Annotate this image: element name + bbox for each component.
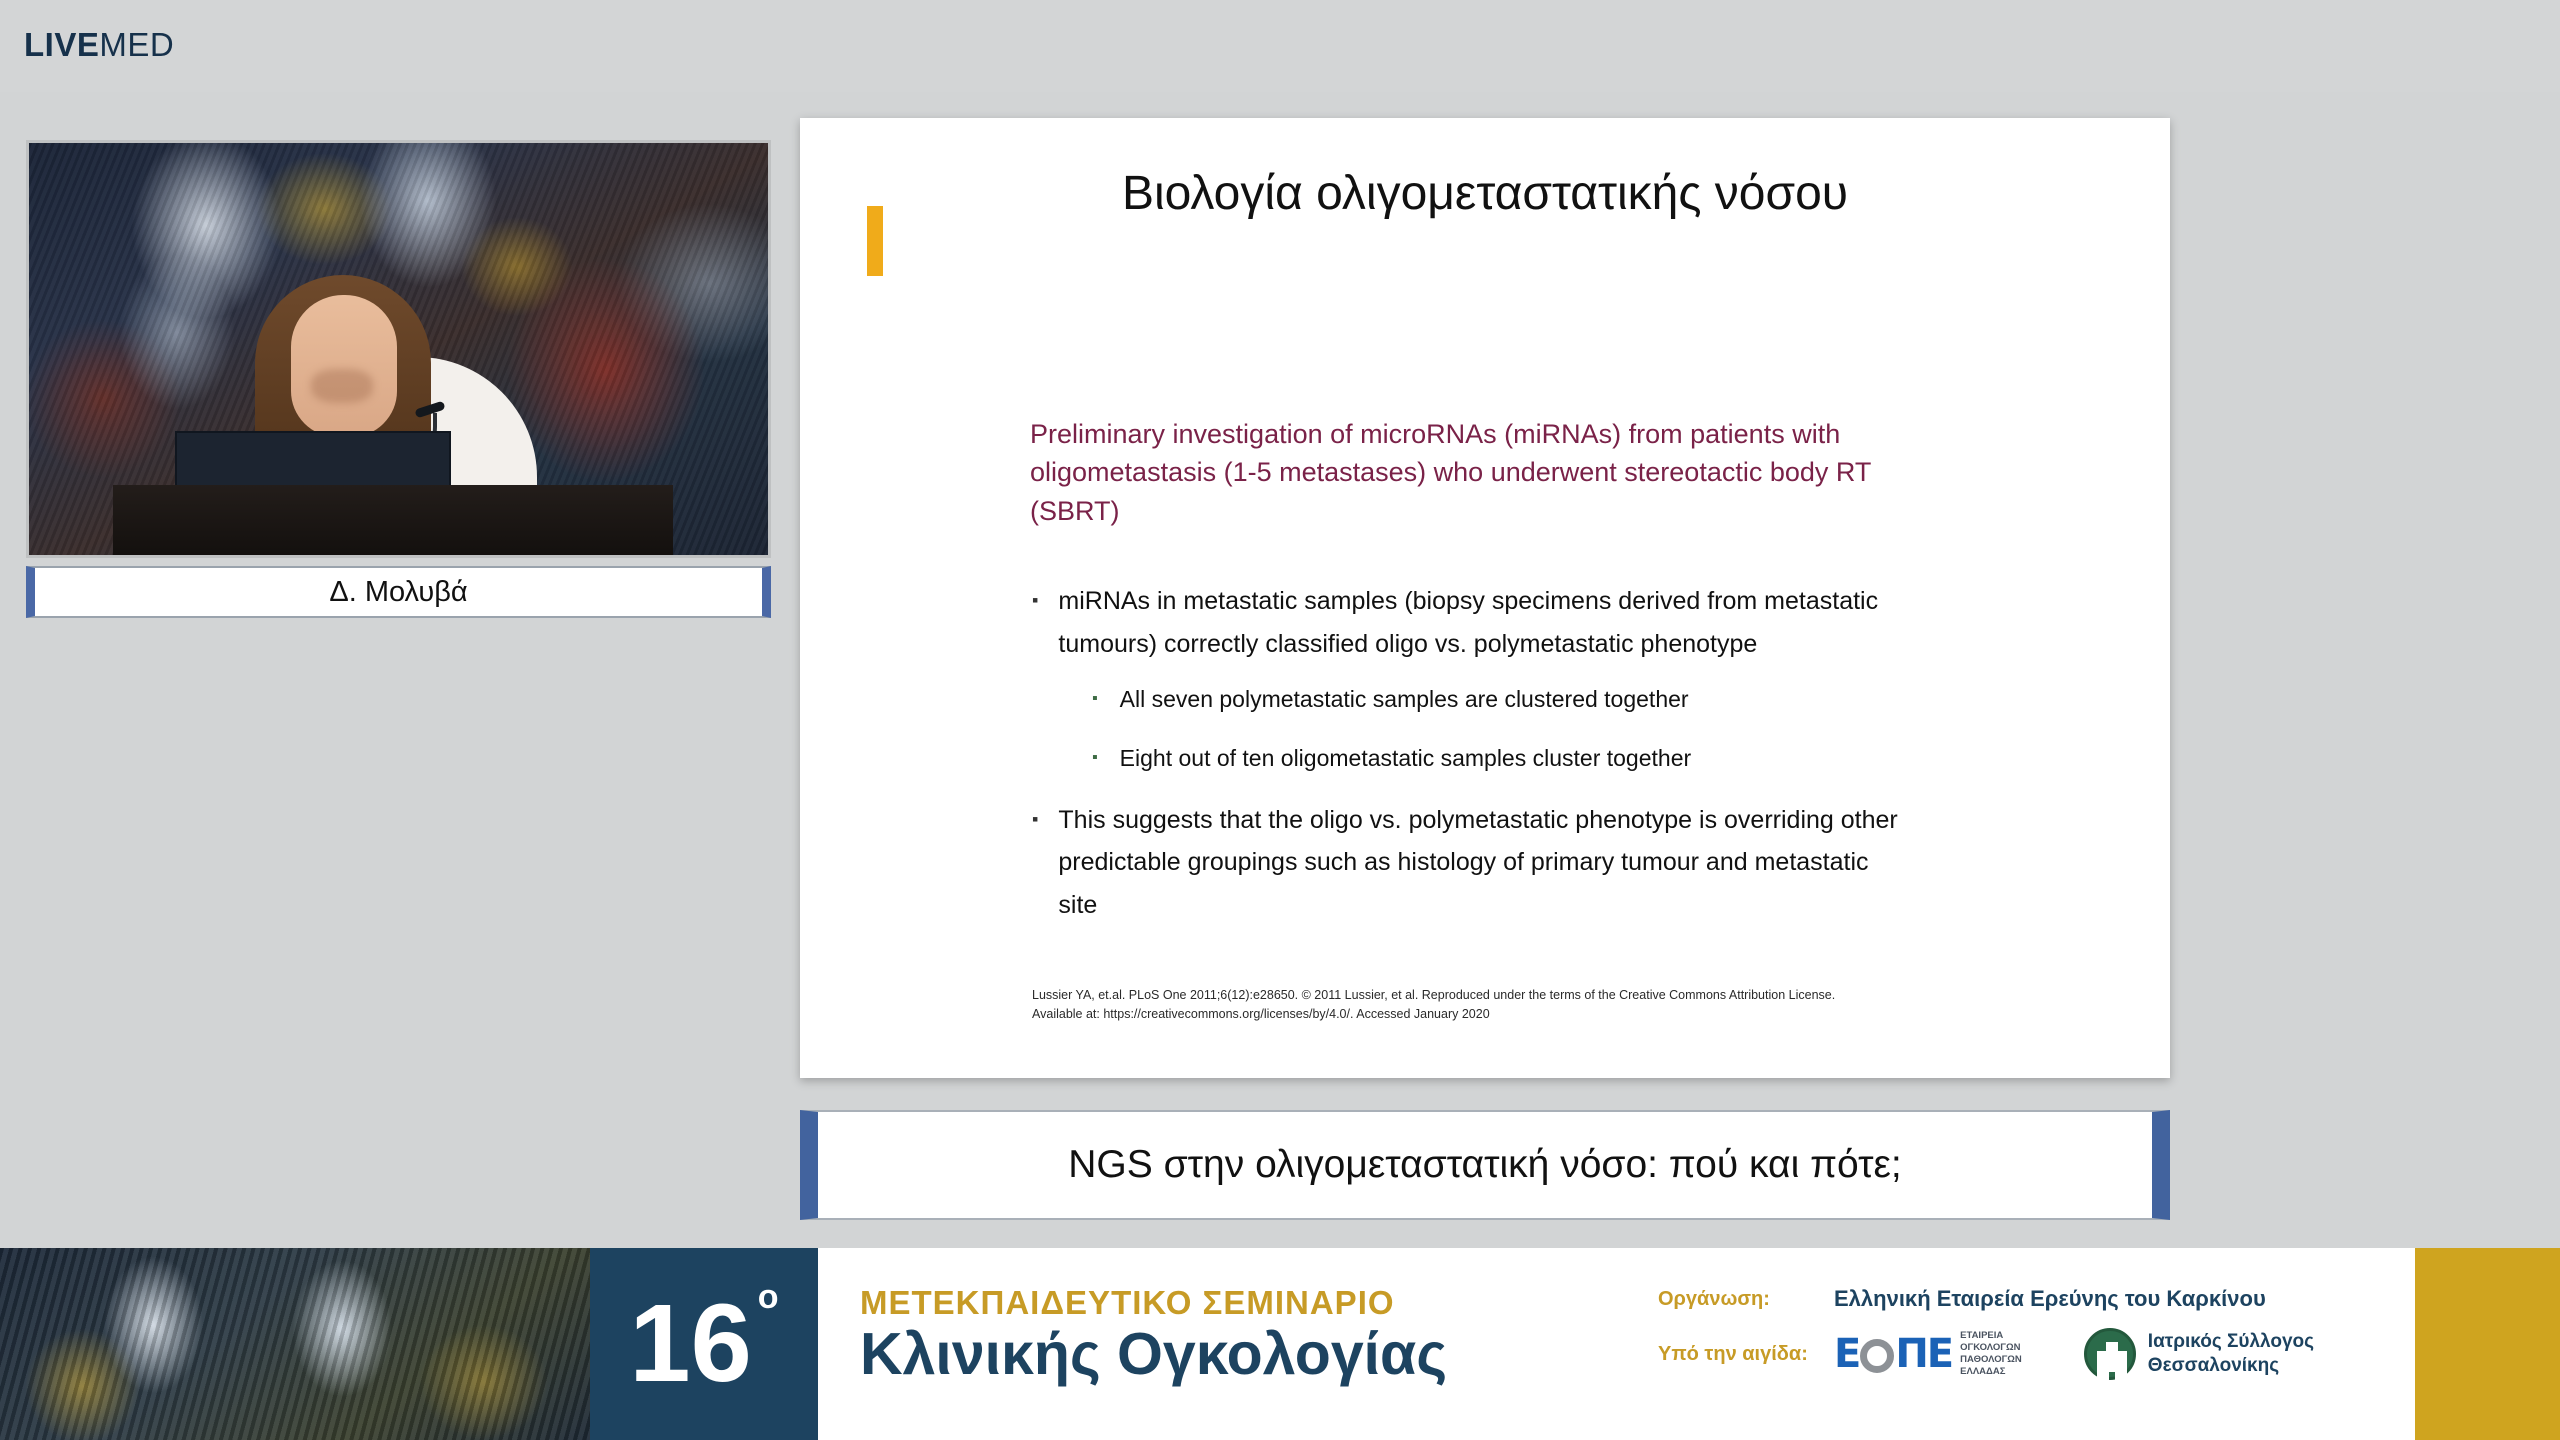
bullet-item: ▪ miRNAs in metastatic samples (biopsy s… bbox=[1032, 580, 1912, 665]
assoc-line-2: Θεσσαλονίκης bbox=[2148, 1355, 2279, 1376]
brand-light: MED bbox=[99, 26, 174, 63]
slide-bullet-list: ▪ miRNAs in metastatic samples (biopsy s… bbox=[1032, 580, 1912, 942]
bullet-marker-icon: ▪ bbox=[1092, 681, 1098, 718]
speaker-nameplate: Δ. Μολυβά bbox=[26, 566, 771, 618]
organiser-value: Ελληνική Εταιρεία Ερεύνης του Καρκίνου bbox=[1834, 1286, 2266, 1312]
slide-title-row: Βιολογία ολιγομεταστατικής νόσου bbox=[800, 158, 2170, 278]
assoc-line-1: Ιατρικός Σύλλογος bbox=[2148, 1331, 2314, 1352]
speaker-face-shadow bbox=[311, 369, 373, 403]
edition-number: 16 bbox=[629, 1289, 751, 1399]
eope-letters-pe: ΠΕ bbox=[1895, 1331, 1952, 1377]
conference-footer: 16 ο ΜΕΤΕΚΠΑΙΔΕΥΤΙΚΟ ΣΕΜΙΝΑΡΙΟ Κλινικής … bbox=[0, 1248, 2560, 1440]
top-bar: LIVEMED bbox=[0, 0, 2560, 92]
organiser-block: Οργάνωση: Ελληνική Εταιρεία Ερεύνης του … bbox=[1658, 1248, 2415, 1440]
bullet-marker-icon: ▪ bbox=[1092, 740, 1098, 777]
bullet-text: All seven polymetastatic samples are clu… bbox=[1120, 681, 1689, 718]
slide-citation: Lussier YA, et.al. PLoS One 2011;6(12):e… bbox=[1032, 986, 1952, 1025]
speaker-video[interactable] bbox=[26, 140, 771, 558]
eope-spiral-icon bbox=[1860, 1339, 1894, 1373]
slide-title: Βιολογία ολιγομεταστατικής νόσου bbox=[800, 166, 2170, 221]
citation-line-1: Lussier YA, et.al. PLoS One 2011;6(12):e… bbox=[1032, 986, 1952, 1005]
edition-number-block: 16 ο bbox=[590, 1248, 818, 1440]
seminar-title: Κλινικής Ογκολογίας bbox=[860, 1324, 1658, 1386]
bullet-marker-icon: ▪ bbox=[1032, 799, 1038, 927]
bullet-text: This suggests that the oligo vs. polymet… bbox=[1058, 799, 1912, 927]
organiser-label: Οργάνωση: bbox=[1658, 1288, 1808, 1311]
slide-lead-text: Preliminary investigation of microRNAs (… bbox=[1030, 415, 1910, 530]
auspices-row: Υπό την αιγίδα: EΠΕ ΕΤΑΙΡΕΙΑΟΓΚΟΛΟΓΩΝΠΑΘ… bbox=[1658, 1328, 2415, 1380]
auspices-label: Υπό την αιγίδα: bbox=[1658, 1343, 1808, 1366]
session-title: NGS στην ολιγομεταστατική νόσο: πού και … bbox=[1068, 1143, 1902, 1187]
organiser-row: Οργάνωση: Ελληνική Εταιρεία Ερεύνης του … bbox=[1658, 1286, 2415, 1312]
footer-artwork bbox=[0, 1248, 590, 1440]
presentation-slide[interactable]: Βιολογία ολιγομεταστατικής νόσου Prelimi… bbox=[800, 118, 2170, 1078]
bullet-text: miRNAs in metastatic samples (biopsy spe… bbox=[1058, 580, 1912, 665]
citation-line-2: Available at: https://creativecommons.or… bbox=[1032, 1005, 1952, 1024]
medical-association-emblem-icon bbox=[2084, 1328, 2136, 1380]
laptop bbox=[175, 431, 451, 489]
medical-association-name: Ιατρικός Σύλλογος Θεσσαλονίκης bbox=[2148, 1330, 2314, 1378]
podium bbox=[113, 485, 673, 558]
eope-logo: EΠΕ ΕΤΑΙΡΕΙΑΟΓΚΟΛΟΓΩΝΠΑΘΟΛΟΓΩΝΕΛΛΑΔΑΣ bbox=[1834, 1330, 2022, 1378]
eope-subtitle: ΕΤΑΙΡΕΙΑΟΓΚΟΛΟΓΩΝΠΑΘΟΛΟΓΩΝΕΛΛΑΔΑΣ bbox=[1960, 1330, 2022, 1378]
bullet-text: Eight out of ten oligometastatic samples… bbox=[1120, 740, 1691, 777]
seminar-titles: ΜΕΤΕΚΠΑΙΔΕΥΤΙΚΟ ΣΕΜΙΝΑΡΙΟ Κλινικής Ογκολ… bbox=[818, 1248, 1658, 1440]
bullet-item: ▪ Eight out of ten oligometastatic sampl… bbox=[1092, 740, 1912, 777]
bullet-item: ▪ All seven polymetastatic samples are c… bbox=[1092, 681, 1912, 718]
bullet-marker-icon: ▪ bbox=[1032, 580, 1038, 665]
bullet-item: ▪ This suggests that the oligo vs. polym… bbox=[1032, 799, 1912, 927]
speaker-name: Δ. Μολυβά bbox=[329, 576, 467, 609]
livemed-logo[interactable]: LIVEMED bbox=[24, 26, 174, 64]
brand-bold: LIVE bbox=[24, 26, 99, 63]
eope-letter-e: E bbox=[1834, 1331, 1859, 1377]
footer-gold-accent bbox=[2415, 1248, 2560, 1440]
edition-ordinal: ο bbox=[758, 1278, 779, 1317]
session-title-bar: NGS στην ολιγομεταστατική νόσο: πού και … bbox=[800, 1110, 2170, 1220]
seminar-subtitle: ΜΕΤΕΚΠΑΙΔΕΥΤΙΚΟ ΣΕΜΙΝΑΡΙΟ bbox=[860, 1284, 1658, 1322]
medical-association-logo: Ιατρικός Σύλλογος Θεσσαλονίκης bbox=[2084, 1328, 2314, 1380]
eope-logo-mark: EΠΕ bbox=[1834, 1331, 1952, 1377]
